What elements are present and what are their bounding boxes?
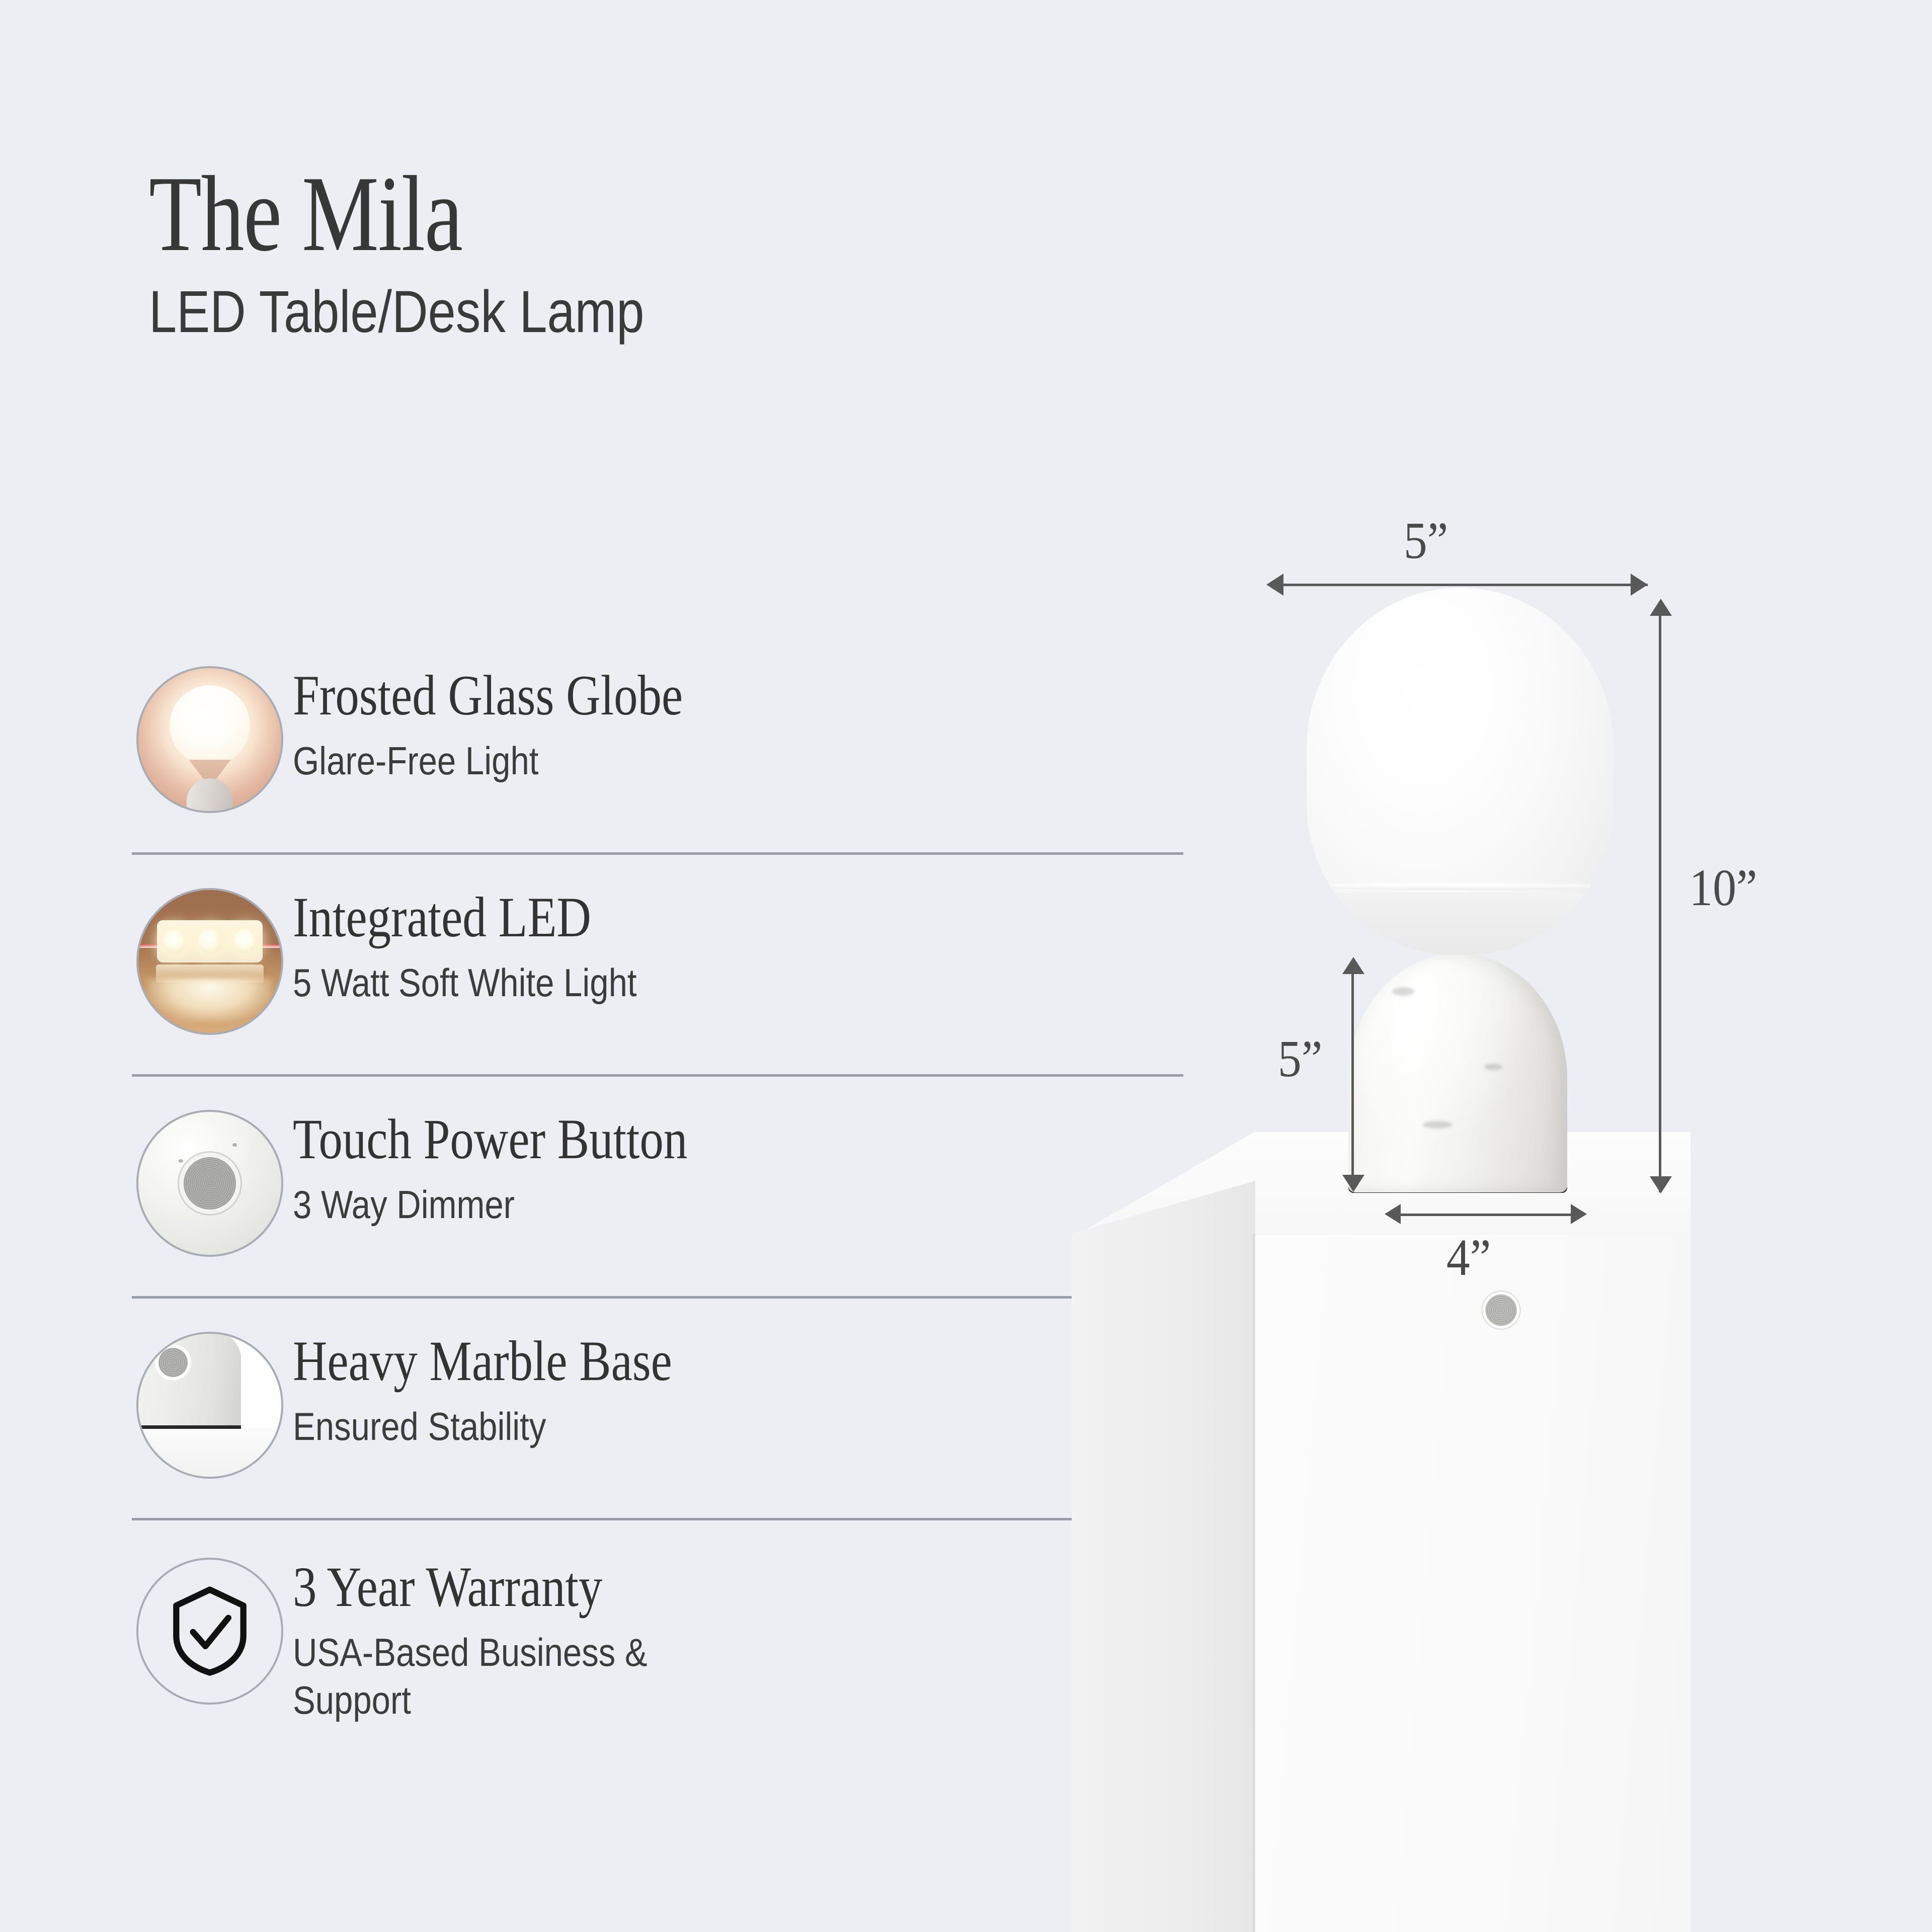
feature-text-wrap: Frosted Glass Globe Glare-Free Light <box>288 664 757 785</box>
marble-vein <box>1392 987 1414 996</box>
product-scene: 5” 10” 5” 4” <box>1046 483 1932 1932</box>
header-block: The Mila LED Table/Desk Lamp <box>149 161 1105 346</box>
dimension-label-total-height: 10” <box>1689 858 1757 918</box>
white-marble-base <box>1348 953 1567 1192</box>
feature-text-wrap: Heavy Marble Base Ensured Stability <box>288 1330 744 1451</box>
feature-icon-wrap <box>132 1330 288 1479</box>
led-diode-shape <box>198 929 222 953</box>
shield-check-icon-circle <box>136 1558 283 1705</box>
arrowhead-down-icon <box>1342 1175 1364 1192</box>
row-spacer <box>132 1299 1188 1330</box>
led-module-photo-icon <box>136 888 283 1035</box>
shield-check-icon <box>166 1584 254 1678</box>
feature-icon-wrap <box>132 664 288 813</box>
feature-icon-wrap <box>132 1108 288 1257</box>
feature-row-frosted-glass-globe: Frosted Glass Globe Glare-Free Light <box>132 664 1183 813</box>
feature-subtitle: 3 Way Dimmer <box>293 1181 697 1229</box>
feature-title: Integrated LED <box>293 889 629 946</box>
row-spacer <box>132 1077 1188 1108</box>
feature-subtitle: 5 Watt Soft White Light <box>293 959 637 1007</box>
arrowhead-right-icon <box>1631 574 1648 596</box>
row-spacer <box>132 1479 1188 1518</box>
row-spacer <box>132 1257 1188 1296</box>
marble-fleck-shape <box>232 1143 237 1147</box>
feature-text-wrap: Touch Power Button 3 Way Dimmer <box>288 1108 763 1229</box>
feature-row-touch-power-button: Touch Power Button 3 Way Dimmer <box>132 1108 1183 1257</box>
feature-row-integrated-led: Integrated LED 5 Watt Soft White Light <box>132 886 1183 1035</box>
frosted-glass-globe <box>1307 588 1614 955</box>
feature-title: Heavy Marble Base <box>293 1333 672 1390</box>
marble-vein <box>1423 1121 1452 1129</box>
feature-title: Touch Power Button <box>293 1111 687 1168</box>
dimension-line-base-width <box>1394 1214 1575 1216</box>
dimension-label-base-height: 5” <box>1278 1029 1322 1089</box>
touch-button-shape <box>184 1157 236 1210</box>
pedestal-left-face <box>1072 1181 1255 1932</box>
lit-glass-globe-photo-icon <box>136 666 283 813</box>
dimension-line-base-height <box>1351 969 1354 1190</box>
arrowhead-down-icon <box>1650 1176 1672 1193</box>
led-glow-shape <box>147 979 273 1022</box>
feature-icon-wrap <box>132 1556 288 1705</box>
surface-shape <box>138 1428 281 1477</box>
feature-title: Frosted Glass Globe <box>293 667 683 724</box>
base-shadow-line-shape <box>136 1425 241 1429</box>
row-spacer <box>132 1035 1188 1074</box>
feature-title: 3 Year Warranty <box>293 1559 639 1616</box>
globe-stem-shape <box>187 778 233 813</box>
pedestal-corner-edge <box>1253 1234 1255 1932</box>
feature-subtitle: Glare-Free Light <box>293 737 692 785</box>
led-module-shape <box>157 920 263 962</box>
globe-neck-shape <box>189 760 231 781</box>
dimension-line-globe-width <box>1275 584 1648 586</box>
globe-lip-shade <box>1307 893 1614 955</box>
row-spacer <box>132 1520 1188 1556</box>
row-spacer <box>132 855 1188 886</box>
feature-row-heavy-marble-base: Heavy Marble Base Ensured Stability <box>132 1330 1183 1479</box>
page-subtitle: LED Table/Desk Lamp <box>149 278 952 347</box>
touch-power-button[interactable] <box>1486 1295 1517 1326</box>
feature-subtitle: USA-Based Business & Support <box>293 1629 648 1724</box>
arrowhead-right-icon <box>1571 1204 1587 1224</box>
arrowhead-left-icon <box>1266 574 1283 596</box>
dimension-label-globe-width: 5” <box>1404 511 1448 571</box>
feature-text-wrap: 3 Year Warranty USA-Based Business & Sup… <box>288 1556 705 1724</box>
feature-icon-wrap <box>132 886 288 1035</box>
led-diode-shape <box>163 929 187 953</box>
dimension-line-total-height <box>1659 609 1661 1192</box>
marble-fleck-shape <box>179 1159 183 1163</box>
globe-seam <box>1325 885 1595 890</box>
arrowhead-up-icon <box>1650 599 1672 616</box>
marble-body-shape <box>136 1332 241 1428</box>
feature-list: Frosted Glass Globe Glare-Free Light Int… <box>132 664 1188 1724</box>
arrowhead-up-icon <box>1342 957 1364 974</box>
globe-glow-shape <box>170 685 250 766</box>
marble-highlight <box>1392 1011 1423 1101</box>
marble-base-photo-icon <box>136 1332 283 1479</box>
dimension-label-base-width: 4” <box>1446 1228 1491 1287</box>
page-title: The Mila <box>149 161 914 267</box>
led-diode-shape <box>233 929 257 953</box>
row-spacer <box>132 813 1188 852</box>
feature-row-3-year-warranty: 3 Year Warranty USA-Based Business & Sup… <box>132 1556 1183 1724</box>
marble-vein <box>1484 1064 1502 1070</box>
feature-text-wrap: Integrated LED 5 Watt Soft White Light <box>288 886 693 1007</box>
touch-button-shape <box>158 1348 188 1377</box>
arrowhead-left-icon <box>1385 1204 1401 1224</box>
feature-subtitle: Ensured Stability <box>293 1403 681 1451</box>
touch-button-photo-icon <box>136 1110 283 1257</box>
pedestal-front-face <box>1254 1235 1691 1932</box>
